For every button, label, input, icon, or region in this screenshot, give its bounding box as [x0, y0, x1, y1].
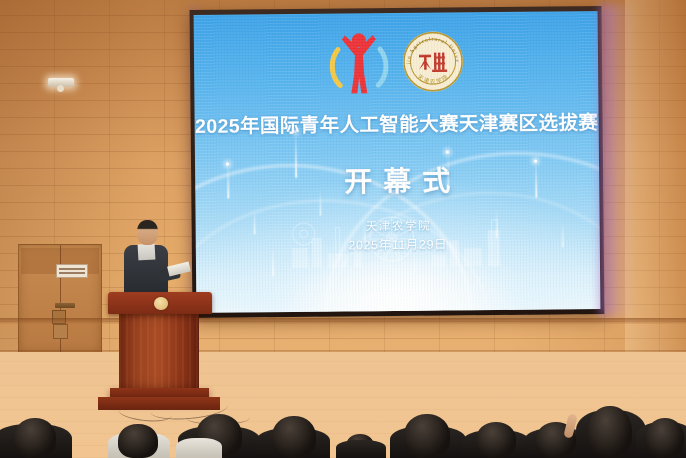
audience-head	[476, 422, 516, 458]
podium-emblem-icon	[154, 297, 168, 310]
audience-shoulders	[336, 440, 386, 458]
led-pixel-grid	[194, 11, 601, 313]
wall-light-icon	[48, 78, 74, 87]
audience-head	[404, 414, 450, 458]
audience-head	[14, 418, 56, 458]
audience-head	[272, 416, 316, 458]
podium-body	[119, 313, 199, 390]
led-screen: Tianjin Agricultural University	[194, 11, 601, 313]
podium-top	[108, 292, 212, 314]
audience-head	[646, 418, 684, 458]
door-sign	[56, 264, 88, 278]
led-screen-frame: Tianjin Agricultural University	[190, 6, 605, 318]
audience-head	[588, 406, 632, 458]
presenter-collar	[138, 244, 156, 261]
audience-row	[0, 386, 686, 458]
stage-top-edge	[0, 318, 686, 324]
audience-shoulders	[176, 438, 222, 458]
door-handle[interactable]	[55, 303, 75, 308]
screen-right-purple-glow	[600, 4, 634, 316]
presenter-head	[137, 220, 158, 245]
auditorium-photo: Tianjin Agricultural University	[0, 0, 686, 458]
audience-head	[118, 424, 158, 458]
